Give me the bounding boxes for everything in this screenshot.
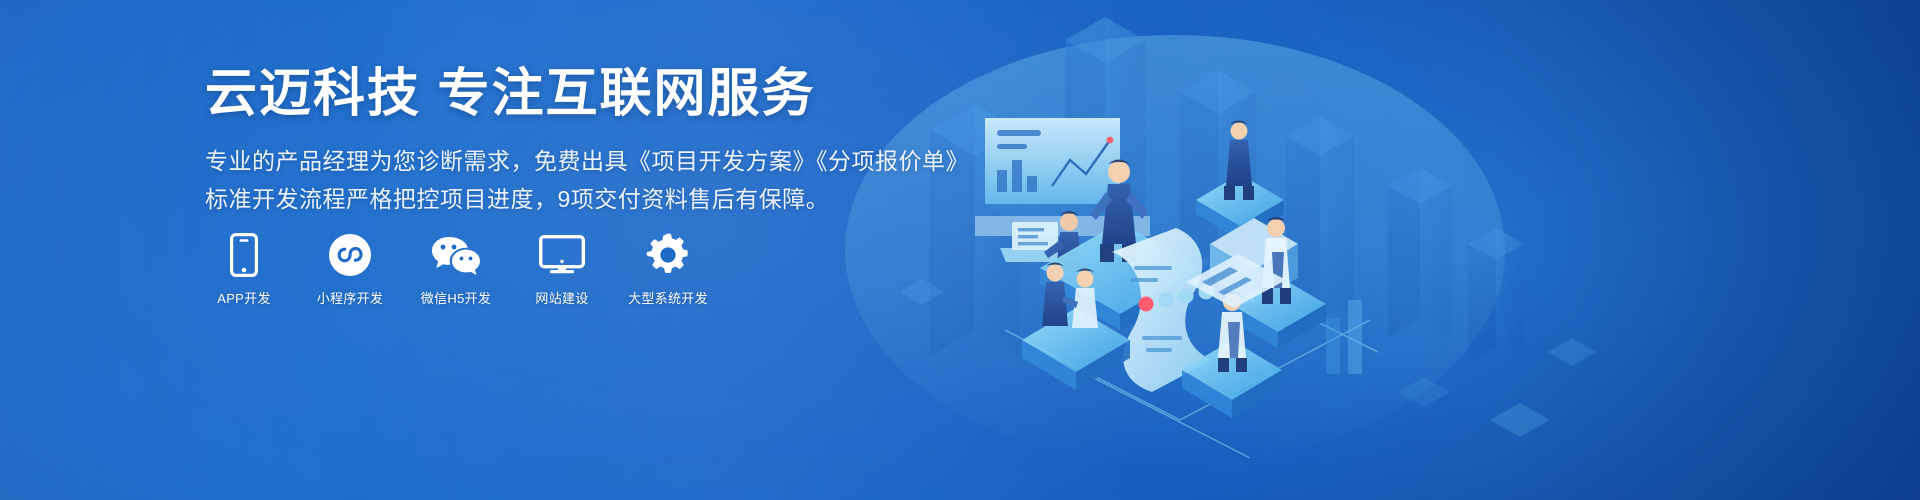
- page-title: 云迈科技 专注互联网服务: [205, 64, 965, 125]
- subtitle-line-2: 标准开发流程严格把控项目进度，9项交付资料售后有保障。: [205, 181, 965, 218]
- service-list: APP开发 小程序开发 微信: [205, 232, 707, 305]
- central-platform: [1040, 222, 1200, 330]
- service-label: 网站建设: [535, 292, 588, 305]
- hero-banner: 云迈科技 专注互联网服务 专业的产品经理为您诊断需求，免费出具《项目开发方案》《…: [0, 0, 1920, 500]
- person-laptop: [1000, 211, 1082, 272]
- service-item-website[interactable]: 网站建设: [523, 232, 601, 305]
- service-item-large-system[interactable]: 大型系统开发: [629, 232, 707, 305]
- hero-content: 云迈科技 专注互联网服务 专业的产品经理为您诊断需求，免费出具《项目开发方案》《…: [205, 64, 965, 218]
- service-item-app[interactable]: APP开发: [205, 232, 283, 305]
- sheet-progress-dots: [1139, 285, 1214, 312]
- monitor-icon: [539, 232, 585, 278]
- service-label: 小程序开发: [317, 292, 384, 305]
- server-box: [1210, 218, 1298, 304]
- hero-subtitle: 专业的产品经理为您诊断需求，免费出具《项目开发方案》《分项报价单》 标准开发流程…: [205, 143, 965, 218]
- gear-icon: [646, 232, 690, 278]
- accent-bars: [1326, 300, 1362, 374]
- service-item-wechat-h5[interactable]: 微信H5开发: [417, 232, 495, 305]
- subtitle-line-1: 专业的产品经理为您诊断需求，免费出具《项目开发方案》《分项报价单》: [205, 143, 965, 180]
- floating-diamonds: [900, 279, 1596, 437]
- wechat-icon: [430, 232, 482, 278]
- floating-ui-card: [1186, 254, 1286, 308]
- person-standing-center: [1090, 160, 1148, 263]
- service-item-mini-program[interactable]: 小程序开发: [311, 232, 389, 305]
- platform-bottom-left: [1022, 263, 1130, 391]
- service-label: 大型系统开发: [628, 292, 708, 305]
- platform-upper-right: [1196, 121, 1284, 241]
- ground-grid: [1005, 296, 1378, 458]
- person-pair: [1042, 263, 1098, 329]
- platform-lower-right: [1230, 217, 1326, 348]
- platform-bottom-right: [1182, 291, 1282, 418]
- service-label: 微信H5开发: [421, 292, 491, 305]
- mobile-phone-icon: [230, 232, 258, 278]
- mini-program-icon: [328, 232, 372, 278]
- data-sheet: [1112, 228, 1214, 392]
- service-label: APP开发: [217, 292, 271, 305]
- dashboard-monitor: [975, 118, 1150, 236]
- background-blocks: [930, 17, 1524, 364]
